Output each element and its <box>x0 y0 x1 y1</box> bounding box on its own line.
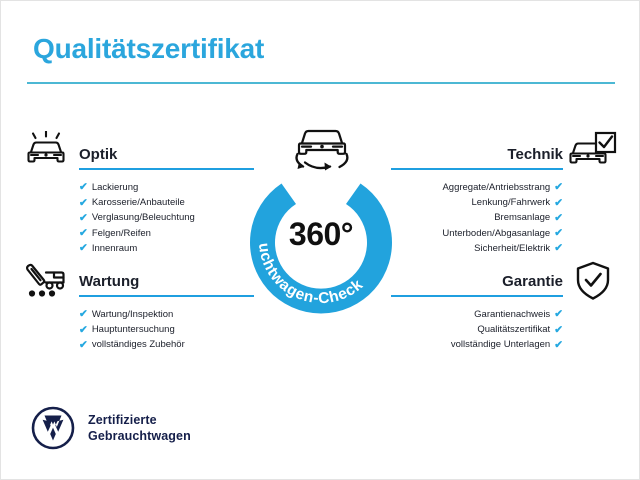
list-item: ✔vollständiges Zubehör <box>79 337 254 352</box>
section-technik-title: Technik <box>391 146 563 164</box>
list-item-label: Innenraum <box>92 241 137 256</box>
check-icon: ✔ <box>79 340 88 351</box>
vw-certified-footer: Zertifizierte Gebrauchtwagen <box>31 406 191 450</box>
check-icon: ✔ <box>554 340 563 351</box>
page-title: Qualitätszertifikat <box>33 33 264 65</box>
list-item-label: Felgen/Reifen <box>92 226 151 241</box>
section-optik-rule <box>79 168 254 170</box>
vw-label-line-2: Gebrauchtwagen <box>88 428 191 444</box>
list-item-label: Unterboden/Abgasanlage <box>442 226 550 241</box>
car-checkbox-icon <box>569 131 617 167</box>
check-icon: ✔ <box>554 198 563 209</box>
vw-logo <box>31 406 75 450</box>
check-icon: ✔ <box>554 228 563 239</box>
section-optik-title: Optik <box>79 146 254 164</box>
list-item-label: Karosserie/Anbauteile <box>92 195 185 210</box>
list-item: Aggregate/Antriebsstrang✔ <box>391 180 563 195</box>
badge-360-gebrauchtwagen-check: Gebrauchtwagen-Check 360° <box>238 158 404 324</box>
section-wartung: Wartung ✔Wartung/Inspektion ✔Hauptunters… <box>79 273 254 353</box>
list-item-label: Bremsanlage <box>494 210 550 225</box>
car-rotation-icon <box>278 121 366 179</box>
section-wartung-items: ✔Wartung/Inspektion ✔Hauptuntersuchung ✔… <box>79 307 254 353</box>
check-icon: ✔ <box>79 198 88 209</box>
check-icon: ✔ <box>554 325 563 336</box>
title-divider <box>27 82 615 84</box>
check-icon: ✔ <box>79 228 88 239</box>
section-garantie-rule <box>391 295 563 297</box>
list-item: ✔Verglasung/Beleuchtung <box>79 210 254 225</box>
vw-label-line-1: Zertifizierte <box>88 412 191 428</box>
section-garantie-title: Garantie <box>391 273 563 291</box>
list-item-label: vollständige Unterlagen <box>451 337 550 352</box>
check-icon: ✔ <box>554 182 563 193</box>
check-icon: ✔ <box>554 213 563 224</box>
check-icon: ✔ <box>79 243 88 254</box>
list-item-label: Garantienachweis <box>474 307 550 322</box>
section-technik-rule <box>391 168 563 170</box>
check-icon: ✔ <box>554 243 563 254</box>
section-technik: Technik Aggregate/Antriebsstrang✔ Lenkun… <box>391 146 563 256</box>
list-item: ✔Wartung/Inspektion <box>79 307 254 322</box>
list-item: ✔Innenraum <box>79 241 254 256</box>
list-item-label: Wartung/Inspektion <box>92 307 174 322</box>
section-garantie-header: Garantie <box>391 273 563 299</box>
list-item: ✔Hauptuntersuchung <box>79 322 254 337</box>
check-icon: ✔ <box>79 182 88 193</box>
section-technik-items: Aggregate/Antriebsstrang✔ Lenkung/Fahrwe… <box>391 180 563 256</box>
list-item-label: Qualitätszertifikat <box>477 322 550 337</box>
list-item: Bremsanlage✔ <box>391 210 563 225</box>
section-technik-header: Technik <box>391 146 563 172</box>
list-item: vollständige Unterlagen✔ <box>391 337 563 352</box>
car-shine-icon <box>24 131 68 165</box>
shield-check-icon <box>575 261 611 301</box>
list-item: Qualitätszertifikat✔ <box>391 322 563 337</box>
list-item-label: Verglasung/Beleuchtung <box>92 210 195 225</box>
list-item-label: Lackierung <box>92 180 138 195</box>
section-wartung-header: Wartung <box>79 273 254 299</box>
list-item-label: Sicherheit/Elektrik <box>474 241 550 256</box>
list-item: ✔Felgen/Reifen <box>79 226 254 241</box>
section-optik: Optik ✔Lackierung ✔Karosserie/Anbauteile… <box>79 146 254 256</box>
section-optik-header: Optik <box>79 146 254 172</box>
section-wartung-title: Wartung <box>79 273 254 291</box>
badge-number: 360° <box>238 216 404 253</box>
list-item-label: Hauptuntersuchung <box>92 322 175 337</box>
section-garantie: Garantie Garantienachweis✔ Qualitätszert… <box>391 273 563 353</box>
section-wartung-rule <box>79 295 254 297</box>
list-item-label: Aggregate/Antriebsstrang <box>442 180 550 195</box>
list-item: Unterboden/Abgasanlage✔ <box>391 226 563 241</box>
wrench-car-icon <box>22 260 66 294</box>
check-icon: ✔ <box>79 325 88 336</box>
section-garantie-items: Garantienachweis✔ Qualitätszertifikat✔ v… <box>391 307 563 353</box>
check-icon: ✔ <box>554 309 563 320</box>
list-item-label: Lenkung/Fahrwerk <box>472 195 551 210</box>
list-item-label: vollständiges Zubehör <box>92 337 185 352</box>
list-item: ✔Karosserie/Anbauteile <box>79 195 254 210</box>
list-item: ✔Lackierung <box>79 180 254 195</box>
qualitaetszertifikat-page: Qualitätszertifikat Optik ✔Lackierung ✔K… <box>0 0 640 480</box>
list-item: Garantienachweis✔ <box>391 307 563 322</box>
check-icon: ✔ <box>79 309 88 320</box>
section-optik-items: ✔Lackierung ✔Karosserie/Anbauteile ✔Verg… <box>79 180 254 256</box>
vw-certified-label: Zertifizierte Gebrauchtwagen <box>88 412 191 444</box>
list-item: Lenkung/Fahrwerk✔ <box>391 195 563 210</box>
check-icon: ✔ <box>79 213 88 224</box>
list-item: Sicherheit/Elektrik✔ <box>391 241 563 256</box>
